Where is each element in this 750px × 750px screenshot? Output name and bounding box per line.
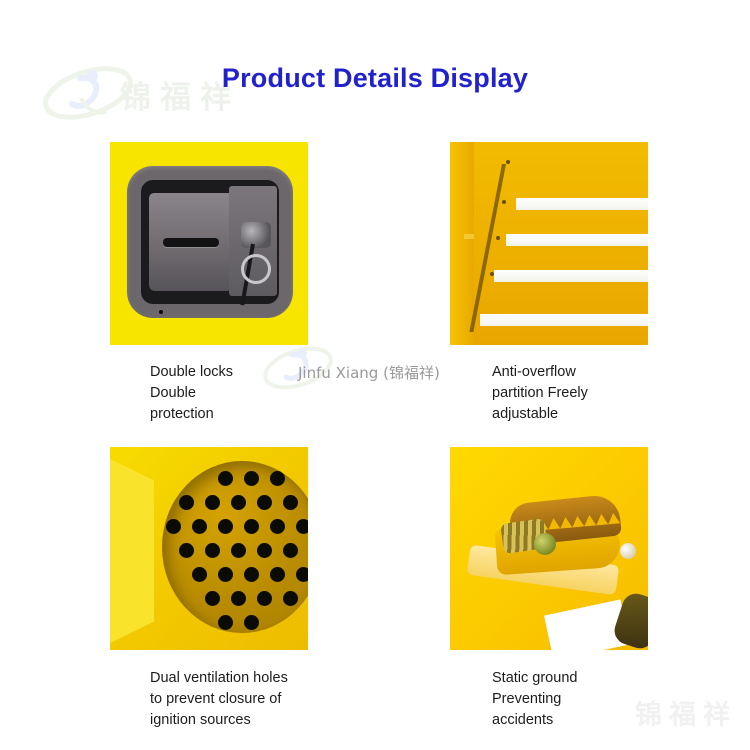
ventilation-hole [270,519,285,534]
ventilation-hole [231,591,246,606]
clamp-tooth [559,517,572,529]
grounding-clamp-photo [450,447,648,650]
ventilation-hole [218,567,233,582]
shelf-mount-hole [506,160,510,164]
mount-screw [620,543,636,559]
lock-slot [163,238,219,247]
ventilation-hole [179,543,194,558]
ventilation-hole [205,543,220,558]
ventilation-hole [179,495,194,510]
ventilation-hole [244,519,259,534]
ventilation-hole [244,615,259,630]
ventilation-hole [166,519,181,534]
ventilation-hole [192,567,207,582]
shelf-mount-hole [496,236,500,240]
adjustable-shelves-photo [450,142,648,345]
ventilation-hole [192,519,207,534]
detail-item-static-ground: Static ground Preventing accidents [450,447,722,731]
cabinet-edge [110,453,154,649]
ventilation-hole [218,471,233,486]
ventilation-hole [257,591,272,606]
cabinet-side-panel [450,142,474,345]
ventilation-hole [231,543,246,558]
lock-recess [141,180,279,304]
lock-plate [127,166,293,318]
clamp-tooth [607,512,620,524]
shelf-mount-hole [502,200,506,204]
shelf [506,234,648,246]
ventilation-hole [296,519,308,534]
ventilation-hole [270,567,285,582]
ventilation-hole [283,591,298,606]
ventilation-hole [257,543,272,558]
ventilation-hole [270,471,285,486]
clamp-tooth [583,514,596,526]
ventilation-hole [205,495,220,510]
clamp-tooth [571,515,584,527]
ventilation-hole [244,567,259,582]
ventilation-hole [257,495,272,510]
detail-caption: Double locks Double protection [150,362,380,425]
lock-screw [159,310,163,314]
clamp-tooth [595,513,608,525]
ventilation-disc [162,461,308,633]
paddle-lock-photo [110,142,308,345]
ventilation-hole [205,591,220,606]
shelf [516,198,648,210]
detail-item-anti-overflow-partition: Anti-overflow partition Freely adjustabl… [450,142,722,425]
ventilation-hole [283,543,298,558]
detail-item-double-locks: Double locks Double protection [110,142,380,425]
panel-highlight [464,234,474,239]
shelf [480,314,648,326]
shelf-mount-hole [490,272,494,276]
clamp-bolt [534,533,556,555]
ventilation-hole [283,495,298,510]
ventilation-hole [231,495,246,510]
ventilation-holes-photo [110,447,308,650]
clamp-tooth [547,518,560,530]
detail-caption: Anti-overflow partition Freely adjustabl… [492,362,722,425]
detail-caption: Static ground Preventing accidents [492,668,722,731]
detail-item-dual-ventilation-holes: Dual ventilation holes to prevent closur… [110,447,380,731]
shelf [494,270,648,282]
lock-paddle-handle [149,193,233,291]
ventilation-hole [296,567,308,582]
lock-cylinder-icon [241,222,271,248]
key-ring [241,254,271,284]
ventilation-hole [218,519,233,534]
detail-caption: Dual ventilation holes to prevent closur… [150,668,380,731]
ventilation-hole [244,471,259,486]
product-details-grid: Double locks Double protection Anti-over… [0,0,750,750]
ventilation-hole [218,615,233,630]
